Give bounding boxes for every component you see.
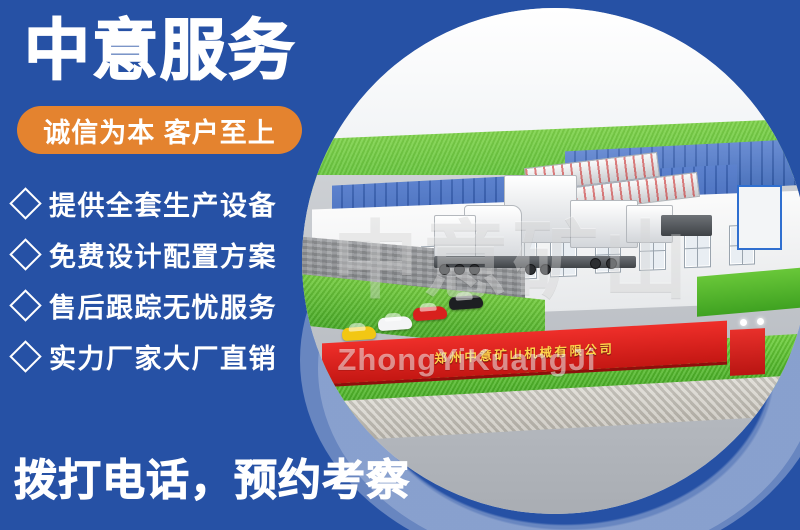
car-white xyxy=(377,315,412,330)
car-yellow xyxy=(342,326,377,341)
wheel xyxy=(525,264,536,275)
stockpile-conveyor xyxy=(661,215,712,235)
list-item-label: 实力厂家大厂直销 xyxy=(49,337,277,376)
call-to-action-text: 拨打电话，预约考察 xyxy=(14,446,410,508)
diamond-icon xyxy=(9,289,42,322)
tagline-badge: 诚信为本 客户至上 xyxy=(17,106,302,154)
diamond-icon xyxy=(9,238,42,271)
company-sign-end-post xyxy=(730,328,765,375)
tagline-text: 诚信为本 客户至上 xyxy=(43,111,276,150)
diamond-icon xyxy=(9,340,42,373)
factory-yard-photo: 郑州中意矿山机械有限公司 中意矿山 ZhongYiKuangJi xyxy=(302,8,800,514)
list-item: 售后跟踪无忧服务 xyxy=(14,280,314,331)
diamond-icon xyxy=(9,187,42,220)
photo-scene: 郑州中意矿山机械有限公司 中意矿山 ZhongYiKuangJi xyxy=(302,8,800,514)
list-item-label: 售后跟踪无忧服务 xyxy=(49,286,277,325)
sign-lamp xyxy=(740,319,747,326)
car-red xyxy=(413,305,448,320)
list-item-label: 提供全套生产设备 xyxy=(49,184,277,223)
page-title: 中意服务 xyxy=(24,18,296,84)
feature-list: 提供全套生产设备 免费设计配置方案 售后跟踪无忧服务 实力厂家大厂直销 xyxy=(14,178,314,382)
blue-door-panel xyxy=(737,185,781,250)
wheel xyxy=(540,264,551,275)
wheel xyxy=(469,264,480,275)
list-item: 免费设计配置方案 xyxy=(14,229,314,280)
wheel xyxy=(439,264,450,275)
sky xyxy=(302,8,800,140)
wheel xyxy=(454,264,465,275)
list-item: 实力厂家大厂直销 xyxy=(14,331,314,382)
list-item-label: 免费设计配置方案 xyxy=(49,235,277,274)
list-item: 提供全套生产设备 xyxy=(14,178,314,229)
promo-poster: 郑州中意矿山机械有限公司 中意矿山 ZhongYiKuangJi 中意服务 诚信… xyxy=(0,0,800,530)
